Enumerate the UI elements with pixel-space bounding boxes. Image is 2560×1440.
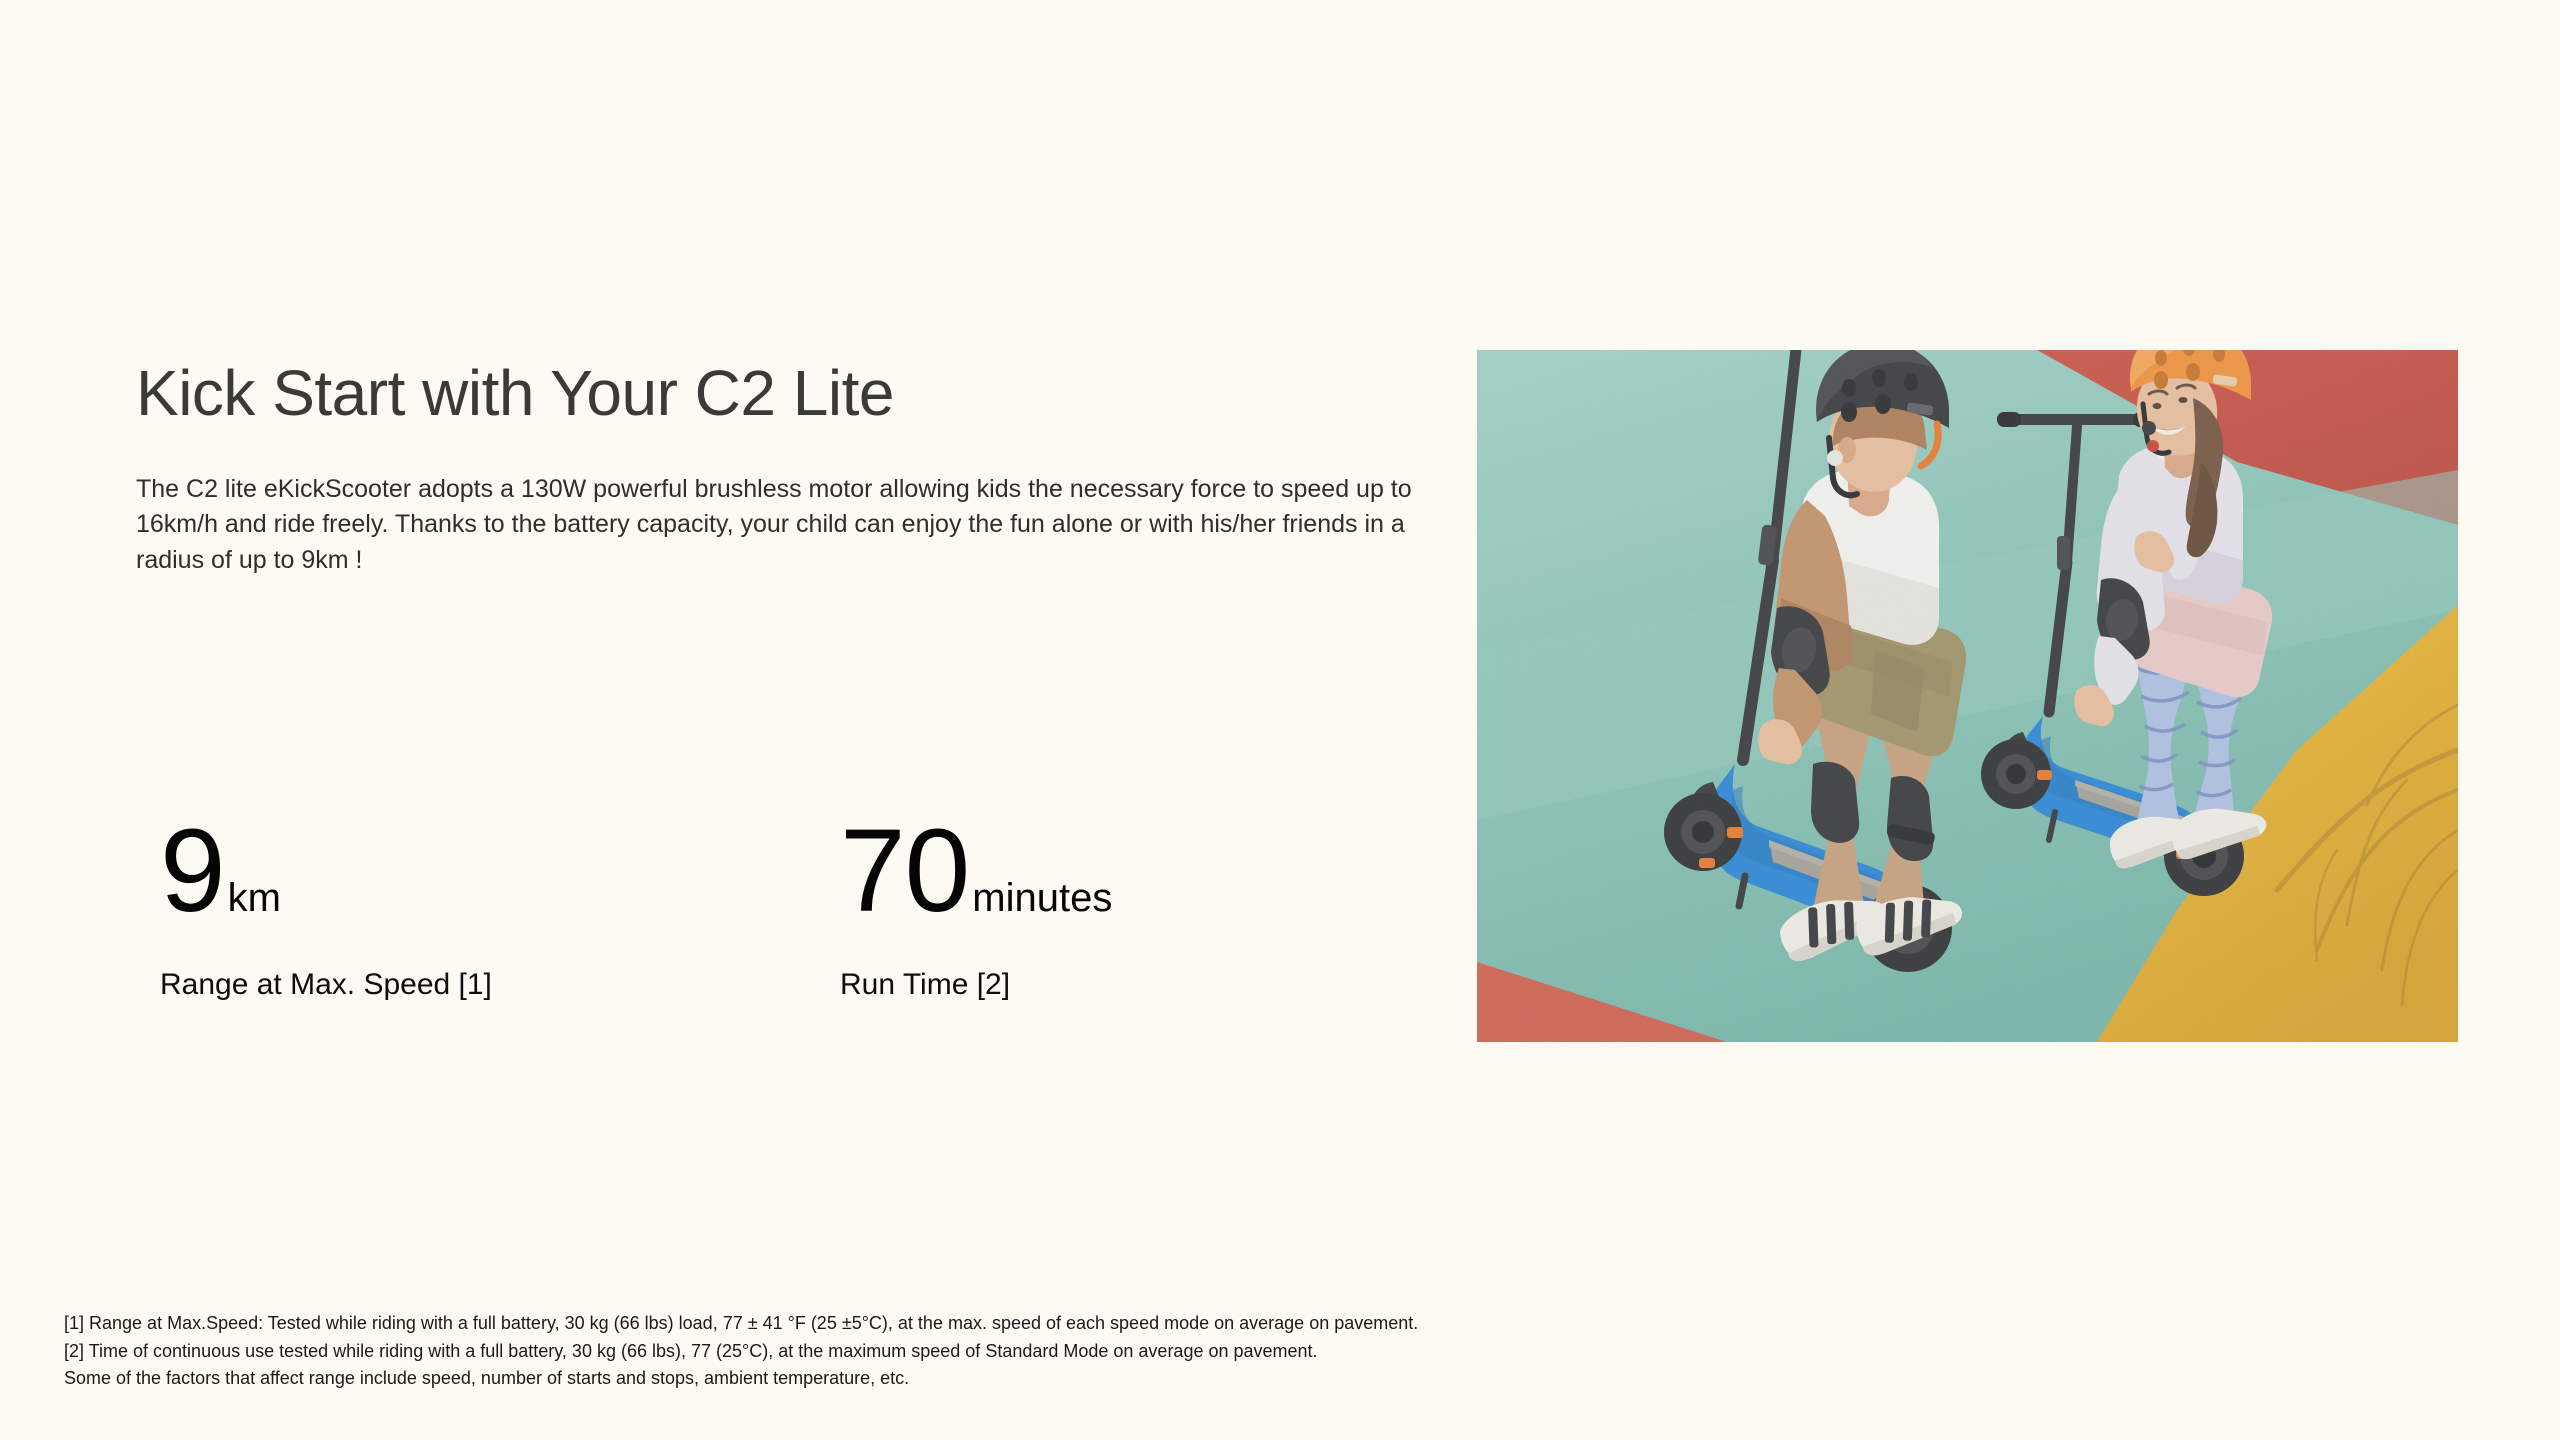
stat-value-range: 9	[160, 812, 225, 930]
hero-photo-illustration	[1477, 350, 2458, 1042]
stats-row: 9 km Range at Max. Speed [1] 70 minutes …	[136, 812, 1440, 1002]
content-column: Kick Start with Your C2 Lite The C2 lite…	[136, 360, 1466, 578]
stat-label-runtime: Run Time [2]	[840, 968, 1010, 1002]
stat-unit-range: km	[228, 878, 281, 918]
page-title: Kick Start with Your C2 Lite	[136, 360, 1466, 428]
intro-paragraph: The C2 lite eKickScooter adopts a 130W p…	[136, 472, 1466, 579]
stat-block-runtime: 70 minutes Run Time [2]	[814, 812, 1440, 1002]
stat-value-row: 9 km	[160, 812, 281, 930]
footnote-1: [1] Range at Max.Speed: Tested while rid…	[64, 1310, 1418, 1338]
footnotes: [1] Range at Max.Speed: Tested while rid…	[64, 1310, 1418, 1393]
stat-value-runtime: 70	[840, 812, 969, 930]
stat-unit-runtime: minutes	[972, 878, 1112, 918]
hero-photo	[1477, 350, 2458, 1042]
footnote-3: Some of the factors that affect range in…	[64, 1365, 1418, 1393]
stat-value-row: 70 minutes	[840, 812, 1112, 930]
stat-block-range: 9 km Range at Max. Speed [1]	[136, 812, 814, 1002]
footnote-2: [2] Time of continuous use tested while …	[64, 1338, 1418, 1366]
stat-label-range: Range at Max. Speed [1]	[160, 968, 492, 1002]
